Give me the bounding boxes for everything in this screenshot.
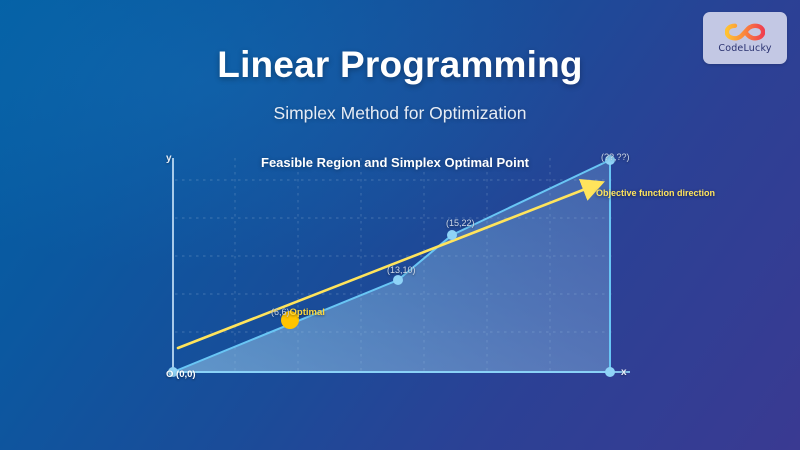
origin-label: O (0,0) — [166, 369, 196, 380]
chart-title: Feasible Region and Simplex Optimal Poin… — [160, 155, 630, 170]
vertex-13-10 — [393, 275, 403, 285]
page-subtitle: Simplex Method for Optimization — [0, 103, 800, 124]
vertex-bottom-right — [605, 367, 615, 377]
slide-canvas: CodeLucky Linear Programming Simplex Met… — [0, 0, 800, 450]
vertex-15-22 — [447, 230, 457, 240]
origin-letter: O — [166, 369, 173, 380]
logo-wordmark: CodeLucky — [718, 43, 771, 54]
infinity-icon — [725, 22, 765, 42]
vertex-label-13-10: (13,10) — [387, 265, 416, 275]
page-title: Linear Programming — [0, 44, 800, 86]
optimal-point-annotation: Optimal — [290, 307, 325, 318]
optimal-point-label: (6,6)Optimal — [271, 307, 325, 318]
vertex-label-15-22: (15,22) — [446, 218, 475, 228]
optimal-point-coords: (6,6) — [271, 307, 290, 317]
x-axis-label: x — [621, 367, 627, 378]
objective-direction-label: Objective function direction — [596, 188, 715, 198]
codelucky-logo-badge: CodeLucky — [703, 12, 787, 64]
y-axis-label: y — [166, 153, 172, 164]
vertex-label-top-right: (??,??) — [601, 152, 630, 162]
origin-coords: (0,0) — [176, 369, 196, 380]
